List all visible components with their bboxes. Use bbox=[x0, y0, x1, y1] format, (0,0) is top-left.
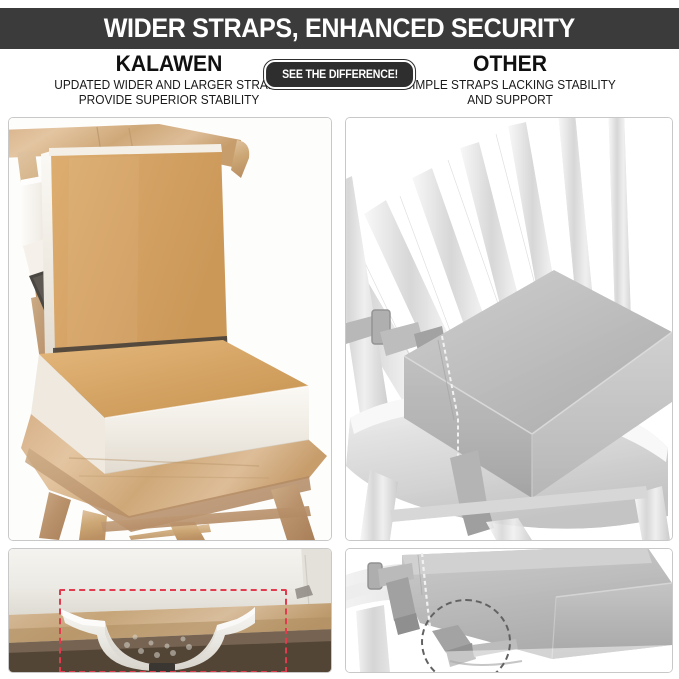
right-caption-line-2: AND SUPPORT bbox=[353, 93, 667, 108]
see-the-difference-badge: SEE THE DIFFERENCE! bbox=[264, 60, 416, 89]
panel-other-main bbox=[345, 117, 673, 541]
comparison-infographic: WIDER STRAPS, ENHANCED SECURITY KALAWEN … bbox=[0, 0, 679, 679]
badge-label: SEE THE DIFFERENCE! bbox=[282, 69, 398, 81]
panel-other-strap-detail bbox=[345, 548, 673, 673]
left-caption-line-2: PROVIDE SUPERIOR STABILITY bbox=[12, 93, 326, 108]
column-headings: KALAWEN UPDATED WIDER AND LARGER STRAPS … bbox=[0, 52, 679, 114]
panel-kalawen-strap-detail bbox=[8, 548, 332, 673]
panel-kalawen-main bbox=[8, 117, 332, 541]
header-banner: WIDER STRAPS, ENHANCED SECURITY bbox=[0, 8, 679, 49]
page-title: WIDER STRAPS, ENHANCED SECURITY bbox=[104, 13, 575, 44]
kalawen-strap-photo bbox=[9, 549, 331, 672]
other-chair-photo bbox=[346, 118, 672, 540]
other-strap-photo bbox=[346, 549, 672, 672]
kalawen-chair-photo bbox=[9, 118, 331, 540]
